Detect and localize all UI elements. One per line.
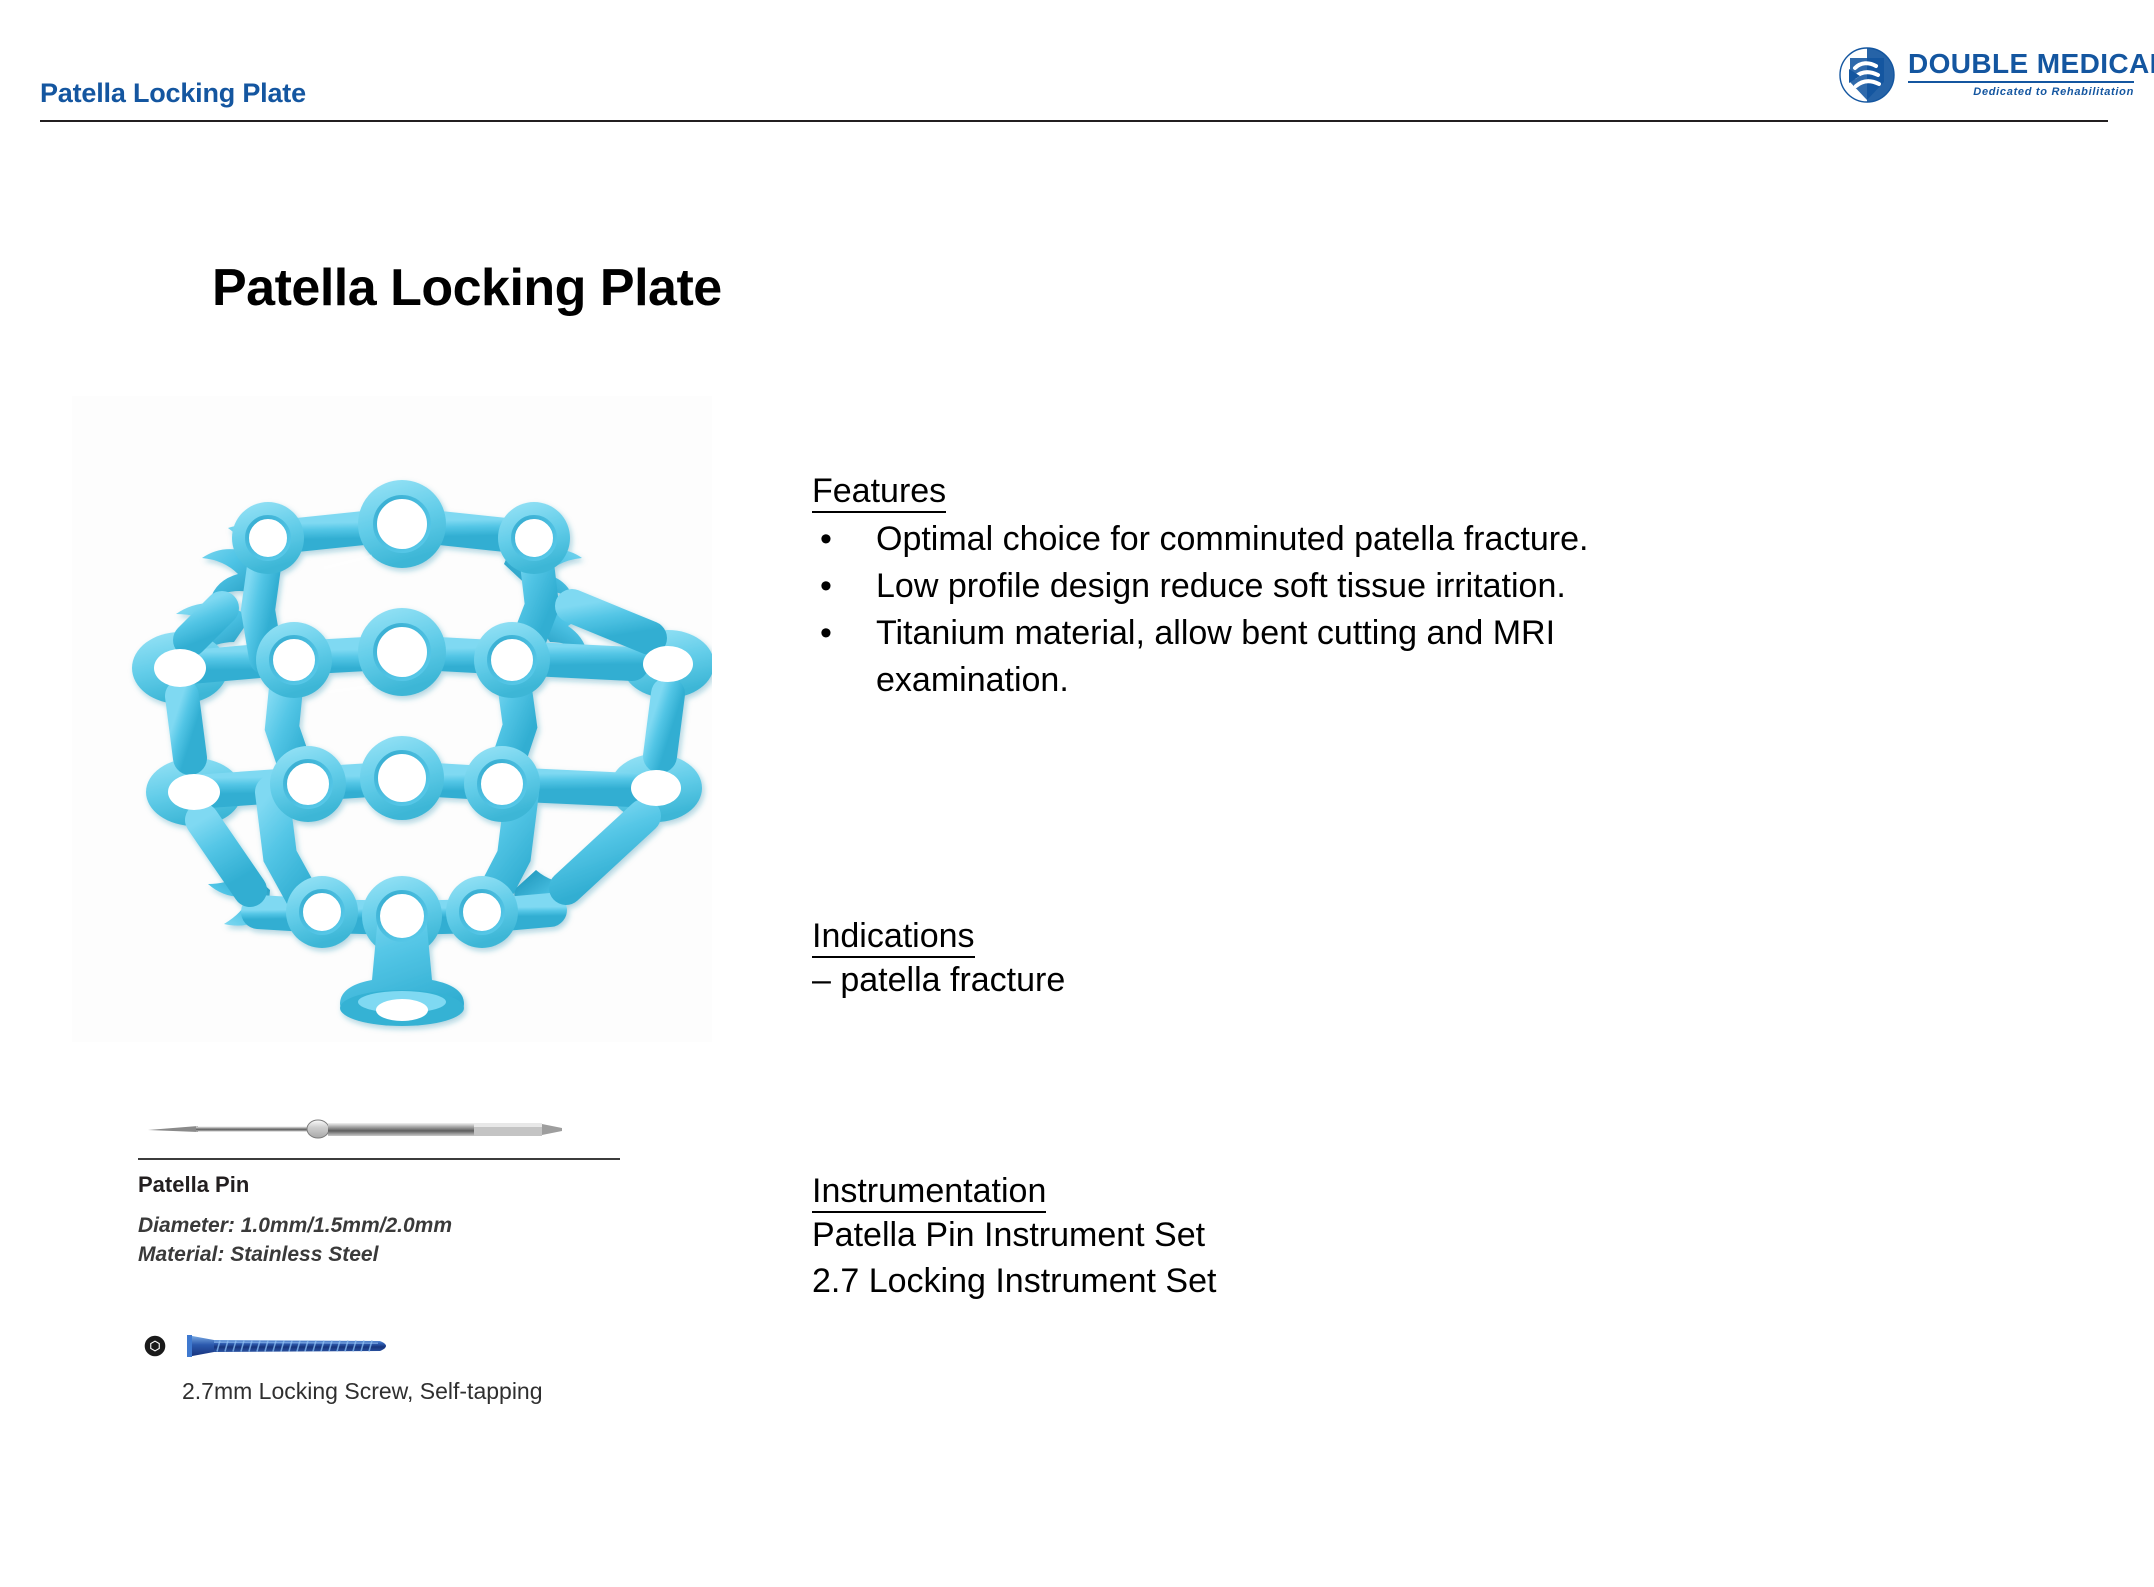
instrumentation-line: 2.7 Locking Instrument Set: [812, 1258, 1712, 1304]
feature-text: examination.: [876, 661, 1069, 699]
slide-header: Patella Locking Plate: [0, 0, 2154, 128]
logo-text-group: DOUBLE MEDICAL Dedicated to Rehabilitati…: [1908, 48, 2134, 98]
indications-section: Indications – patella fracture: [812, 915, 1712, 1003]
indications-heading-text: Indications: [812, 917, 975, 958]
indications-line: – patella fracture: [812, 957, 1712, 1003]
brand-logo: DOUBLE MEDICAL Dedicated to Rehabilitati…: [1836, 46, 2136, 108]
features-heading: Features: [812, 470, 1912, 512]
features-section: Features • Optimal choice for comminuted…: [812, 470, 1912, 704]
bullet-icon: •: [820, 610, 832, 657]
header-divider: [40, 120, 2108, 122]
feature-text: Low profile design reduce soft tissue ir…: [876, 567, 1566, 605]
instrumentation-heading: Instrumentation: [812, 1170, 1712, 1212]
header-title: Patella Locking Plate: [40, 78, 306, 109]
logo-wordmark: DOUBLE MEDICAL: [1908, 48, 2134, 80]
list-item: • Optimal choice for comminuted patella …: [812, 516, 1912, 563]
pin-diameter-label: Diameter: 1.0mm/1.5mm/2.0mm: [138, 1214, 452, 1238]
double-medical-logo-icon: [1836, 46, 1898, 108]
logo-tagline: Dedicated to Rehabilitation: [1908, 86, 2134, 98]
locking-screw-image: [142, 1322, 422, 1370]
pin-material-label: Material: Stainless Steel: [138, 1243, 378, 1267]
pin-divider: [138, 1158, 620, 1160]
instrumentation-section: Instrumentation Patella Pin Instrument S…: [812, 1170, 1712, 1304]
patella-pin-image: [138, 1100, 638, 1160]
indications-heading: Indications: [812, 915, 1712, 957]
features-list: • Optimal choice for comminuted patella …: [812, 516, 1912, 704]
instrumentation-line: Patella Pin Instrument Set: [812, 1212, 1712, 1258]
list-item-continuation: examination.: [812, 657, 1912, 704]
feature-text: Optimal choice for comminuted patella fr…: [876, 520, 1588, 558]
bullet-icon: •: [820, 516, 832, 563]
logo-underline: [1908, 81, 2134, 83]
page-title: Patella Locking Plate: [212, 258, 722, 318]
instrumentation-heading-text: Instrumentation: [812, 1172, 1046, 1213]
feature-text: Titanium material, allow bent cutting an…: [876, 614, 1555, 652]
hex-socket-icon: [144, 1335, 166, 1357]
bullet-icon: •: [820, 563, 832, 610]
list-item: • Low profile design reduce soft tissue …: [812, 563, 1912, 610]
list-item: • Titanium material, allow bent cutting …: [812, 610, 1912, 657]
screw-caption-label: 2.7mm Locking Screw, Self-tapping: [182, 1378, 543, 1405]
pin-name-label: Patella Pin: [138, 1172, 249, 1198]
patella-plate-image: [72, 396, 712, 1042]
features-heading-text: Features: [812, 472, 946, 513]
